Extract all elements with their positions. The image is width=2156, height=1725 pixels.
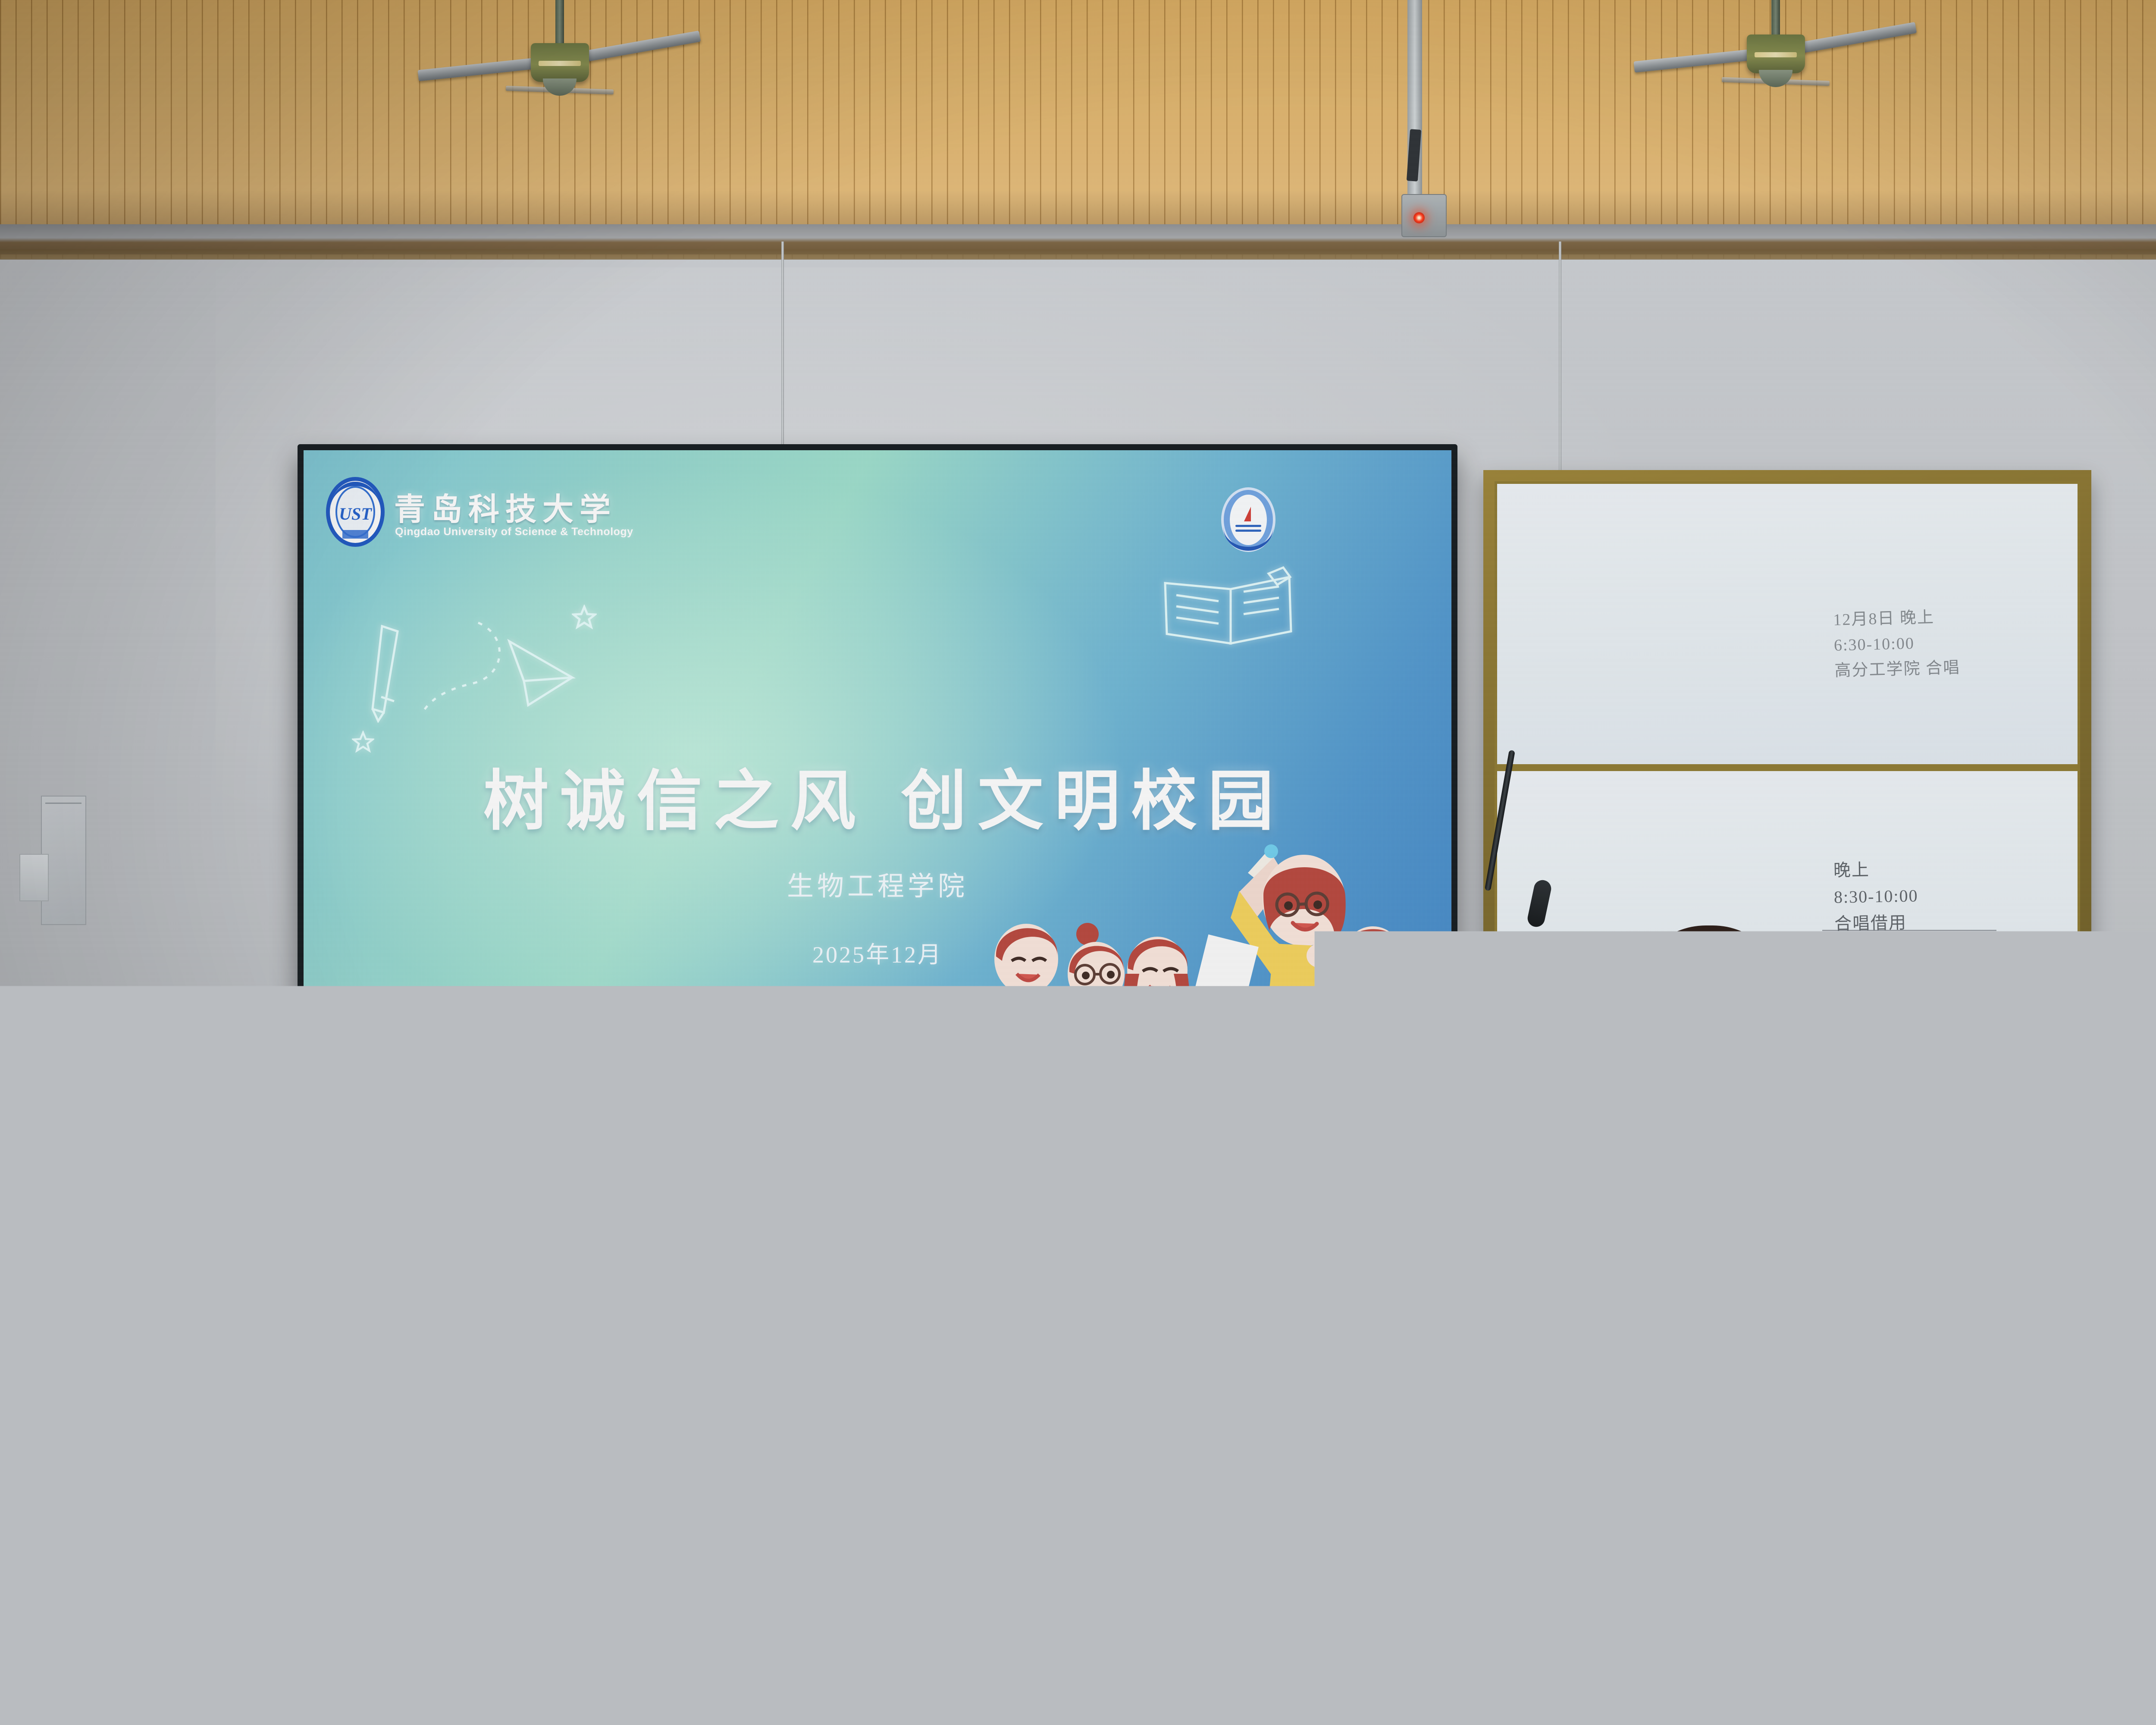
audience-head bbox=[1984, 1544, 2130, 1725]
college-of-biological-engineering-logo-icon bbox=[1221, 487, 1275, 552]
ceiling-edge-trim-lower bbox=[0, 249, 2156, 260]
student-girl-1 bbox=[1062, 923, 1132, 1073]
audience-head bbox=[276, 1522, 431, 1725]
university-name-cn: 青岛科技大学 bbox=[394, 484, 617, 529]
pen-annotation-icon[interactable] bbox=[388, 1070, 406, 1088]
audience-head bbox=[116, 1548, 259, 1725]
open-book-doodle-icon bbox=[1162, 558, 1304, 649]
red-led-indicator bbox=[1413, 212, 1425, 223]
audience-head bbox=[1457, 1531, 1613, 1725]
podium-control-monitor[interactable] bbox=[1647, 1133, 1837, 1184]
teacher-figure bbox=[1185, 844, 1360, 1064]
pencil-doodle-icon bbox=[364, 624, 416, 723]
presenter-hair-front bbox=[1660, 936, 1758, 989]
star-doodle-icon bbox=[572, 605, 597, 630]
presenter-lips bbox=[1701, 1014, 1719, 1023]
student-girl-2 bbox=[1121, 937, 1196, 1076]
whiteboard-pane-top bbox=[1497, 484, 2078, 771]
slide-date: 2025年12月 bbox=[304, 935, 1451, 969]
audience bbox=[0, 1229, 2156, 1725]
previous-slide-icon[interactable] bbox=[329, 1070, 348, 1088]
audience-head bbox=[768, 1522, 927, 1725]
audience-head bbox=[444, 1544, 586, 1725]
whiteboard-note-top: 12月8日 晚上 6:30-10:00 高分工学院 合唱 bbox=[1833, 604, 1960, 684]
classroom-photo: UST 青岛科技大学 Qingdao University of Science… bbox=[0, 0, 2156, 1725]
slide-subtitle: 生物工程学院 bbox=[304, 864, 1451, 903]
student-left bbox=[992, 924, 1091, 1107]
screen-record-icon[interactable] bbox=[447, 1070, 465, 1088]
display-brand-label: Hisense bbox=[857, 1138, 897, 1150]
audience-head bbox=[1294, 1540, 1440, 1725]
toolbar-divider bbox=[505, 1070, 523, 1088]
wall-mounted-control-with-red-led[interactable] bbox=[1401, 0, 1428, 241]
fan-motor bbox=[1747, 34, 1805, 73]
spotlight-focus-icon[interactable] bbox=[417, 1070, 436, 1088]
fan-rod bbox=[555, 0, 564, 47]
more-options-icon[interactable] bbox=[476, 1070, 494, 1088]
presentation-toolbar[interactable] bbox=[321, 1063, 561, 1095]
display-bezel-bottom: Hisense bbox=[304, 1111, 1451, 1130]
audience-head bbox=[604, 1552, 750, 1725]
slide-canvas: UST 青岛科技大学 Qingdao University of Science… bbox=[304, 450, 1451, 1111]
star-doodle-icon bbox=[352, 731, 374, 753]
next-slide-icon[interactable] bbox=[359, 1070, 377, 1088]
slide-title: 树诚信之风 创文明校园 bbox=[345, 748, 1423, 843]
audience-head bbox=[1104, 1509, 1276, 1725]
teacher-and-students-illustration bbox=[972, 831, 1429, 1107]
paper-plane-doodle-icon bbox=[500, 629, 582, 711]
qust-logo-icon: UST bbox=[326, 477, 385, 547]
university-name-en: Qingdao University of Science & Technolo… bbox=[395, 526, 633, 538]
fan-motor bbox=[531, 43, 589, 82]
audience-head bbox=[940, 1535, 1091, 1725]
audience-head bbox=[1802, 1527, 1962, 1725]
dotted-path-doodle-icon bbox=[414, 618, 539, 718]
wall-plate-left bbox=[19, 854, 49, 901]
audience-head bbox=[1630, 1540, 1781, 1725]
fan-rod bbox=[1771, 0, 1780, 39]
student-right bbox=[1307, 926, 1414, 1107]
presentation-display[interactable]: UST 青岛科技大学 Qingdao University of Science… bbox=[298, 444, 1457, 1117]
collapse-toolbar-icon[interactable] bbox=[535, 1070, 553, 1088]
